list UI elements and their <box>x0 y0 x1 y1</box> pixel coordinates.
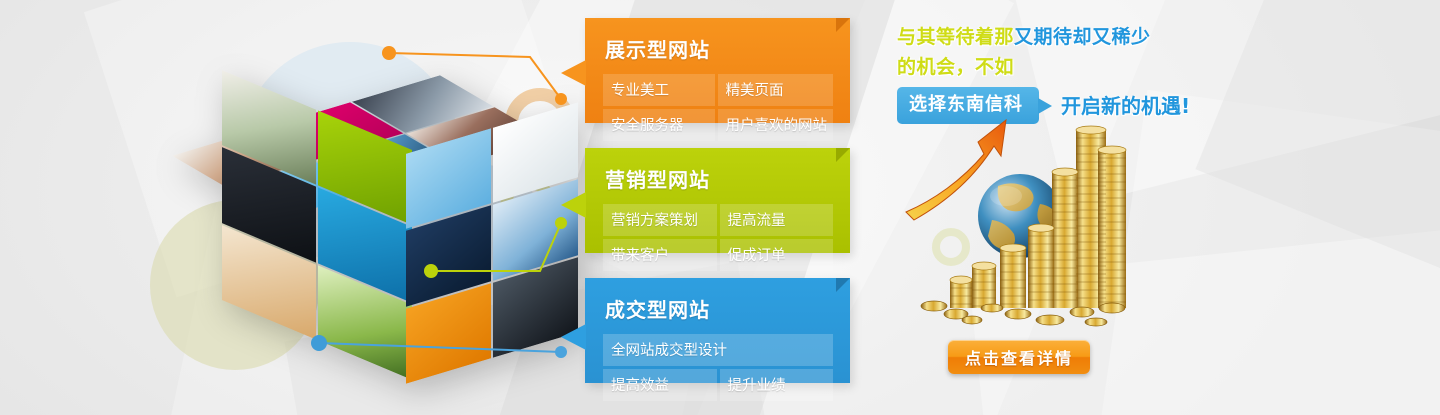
panel-cell[interactable]: 提高效益 <box>603 369 717 401</box>
panel-cell[interactable]: 提高流量 <box>720 204 834 236</box>
panel-cell[interactable]: 全网站成交型设计 <box>603 334 833 366</box>
panel-conversion[interactable]: 成交型网站 全网站成交型设计 提高效益 提升业绩 <box>585 278 850 383</box>
connector-node-green <box>555 217 567 229</box>
panel-cell[interactable]: 安全服务器 <box>603 109 715 141</box>
panel-fold-corner <box>836 148 850 162</box>
panel-cell[interactable]: 用户喜欢的网站 <box>718 109 834 141</box>
panel-pointer-icon <box>561 60 586 86</box>
panel-pointer-icon <box>561 324 586 350</box>
headline-text-yellow: 与其等待着那 <box>897 26 1014 48</box>
panel-pointer-icon <box>561 192 586 218</box>
panel-title: 展示型网站 <box>605 34 834 63</box>
panel-cell[interactable]: 专业美工 <box>603 74 715 106</box>
panel-cell[interactable]: 带来客户 <box>603 239 717 271</box>
connector-node-blue <box>311 335 327 351</box>
coin-stack <box>1000 248 1026 308</box>
headline-text-blue: 又期待却又稀少 <box>1014 26 1151 48</box>
coin-stack <box>972 266 996 308</box>
panel-cell[interactable]: 促成订单 <box>720 239 834 271</box>
panel-fold-corner <box>836 278 850 292</box>
headline-line-1: 与其等待着那又期待却又稀少 <box>897 22 1197 52</box>
panel-cell[interactable]: 营销方案策划 <box>603 204 717 236</box>
panel-marketing[interactable]: 营销型网站 营销方案策划 提高流量 带来客户 促成订单 <box>585 148 850 253</box>
globe-highlight <box>990 186 1022 206</box>
panel-showcase[interactable]: 展示型网站 专业美工 精美页面 安全服务器 用户喜欢的网站 <box>585 18 850 123</box>
connector-conversion <box>320 343 561 352</box>
headline-line-2: 的机会，不如 <box>897 52 1197 82</box>
panel-fold-corner <box>836 18 850 32</box>
panel-cell-grid: 全网站成交型设计 提高效益 提升业绩 <box>603 334 833 401</box>
gold-coins-globe-illustration <box>900 108 1130 340</box>
coin-stack <box>1052 172 1078 308</box>
connector-node-orange <box>382 46 396 60</box>
panel-cell[interactable]: 提升业绩 <box>720 369 834 401</box>
panel-cell-grid: 营销方案策划 提高流量 带来客户 促成订单 <box>603 204 833 271</box>
panel-title: 成交型网站 <box>605 294 834 323</box>
promo-banner: 展示型网站 专业美工 精美页面 安全服务器 用户喜欢的网站 营销型网站 营销方案… <box>0 0 1440 415</box>
panel-title: 营销型网站 <box>605 164 834 193</box>
connector-node-green <box>424 264 438 278</box>
panel-cell-grid: 专业美工 精美页面 安全服务器 用户喜欢的网站 <box>603 74 833 141</box>
panel-cell[interactable]: 精美页面 <box>718 74 834 106</box>
connector-showcase <box>390 53 561 99</box>
view-details-button[interactable]: 点击查看详情 <box>948 340 1090 374</box>
connector-marketing <box>432 223 561 271</box>
connector-node-orange <box>555 93 567 105</box>
